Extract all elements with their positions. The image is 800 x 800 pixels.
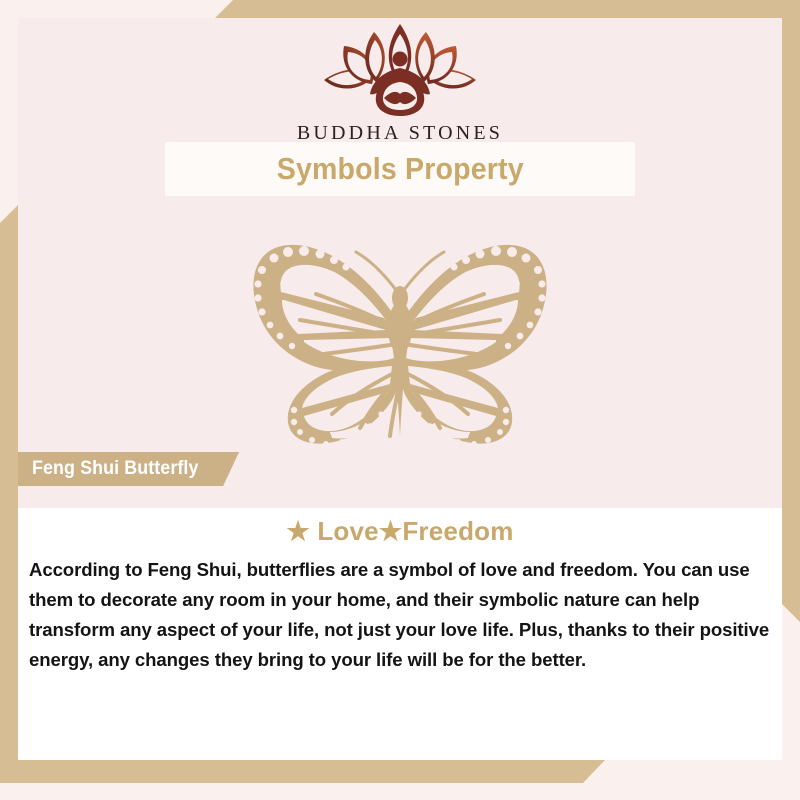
- lotus-meditation-icon: [310, 22, 490, 118]
- category-banner: Feng Shui Butterfly: [18, 452, 239, 486]
- keywords-heading: ★ Love★Freedom: [18, 516, 782, 547]
- title-band: Symbols Property: [165, 142, 635, 196]
- brand-header: BUDDHA STONES: [0, 22, 800, 145]
- page-title: Symbols Property: [276, 151, 523, 187]
- promotional-graphic: BUDDHA STONES Symbols Property: [0, 0, 800, 800]
- frame-top-decoration: [215, 0, 800, 18]
- category-banner-label: Feng Shui Butterfly: [32, 458, 198, 480]
- description-text: According to Feng Shui, butterflies are …: [29, 555, 774, 675]
- illustration-area: [0, 232, 800, 456]
- frame-bottom-decoration: [0, 760, 605, 783]
- description-card: ★ Love★Freedom According to Feng Shui, b…: [18, 508, 782, 760]
- butterfly-icon: [224, 232, 576, 456]
